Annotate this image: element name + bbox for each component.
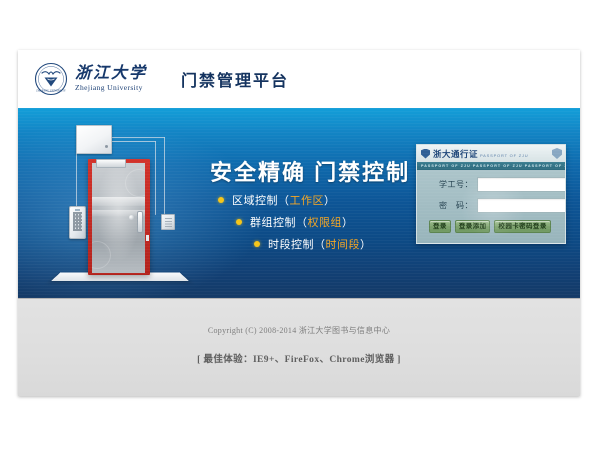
site-footer: Copyright (C) 2008-2014 浙江大学图书与信息中心 [ 最佳… <box>18 298 580 396</box>
campus-card-login-button[interactable]: 校园卡密码登录 <box>494 220 550 233</box>
login-panel-header: 浙大通行证 PASSPORT OF ZJU <box>417 145 565 162</box>
security-door-icon <box>88 159 150 275</box>
feature-label: 时段控制（ <box>268 236 326 252</box>
dot-icon <box>254 241 260 247</box>
feature-highlight: 时间段 <box>326 236 361 252</box>
field-row-staff-id: 学工号： <box>423 177 559 192</box>
feature-highlight: 权限组 <box>308 214 343 230</box>
cable-icon <box>110 141 156 142</box>
cable-icon <box>110 137 165 138</box>
password-input[interactable] <box>477 198 566 213</box>
feature-tail: ） <box>342 214 354 230</box>
login-form: 学工号： 密 码： 登录 登录添加 校园卡密码登录 <box>417 170 565 233</box>
door-lock-icon <box>129 215 134 220</box>
feature-highlight: 工作区 <box>290 192 325 208</box>
door-sensor-icon <box>161 214 175 230</box>
feature-tail: ） <box>324 192 336 208</box>
feature-label: 区域控制（ <box>232 192 290 208</box>
dot-icon <box>218 197 224 203</box>
shield-watermark-icon <box>552 148 562 159</box>
feature-item-area: 区域控制（ 工作区 ） <box>218 192 418 208</box>
field-row-password: 密 码： <box>423 198 559 213</box>
feature-label: 群组控制（ <box>250 214 308 230</box>
copyright-text: Copyright (C) 2008-2014 浙江大学图书与信息中心 <box>18 325 580 336</box>
zju-seal-icon: ZHEJIANG UNIVERSITY <box>34 62 68 96</box>
passport-watermark-strip: PASSPORT OF ZJU PASSPORT OF ZJU PASSPORT… <box>417 162 565 170</box>
login-button[interactable]: 登录 <box>429 220 451 233</box>
dot-icon <box>236 219 242 225</box>
password-label: 密 码： <box>423 200 477 211</box>
keypad-reader-icon <box>69 206 86 239</box>
login-panel: 浙大通行证 PASSPORT OF ZJU PASSPORT OF ZJU PA… <box>416 144 566 244</box>
cable-icon <box>76 152 77 206</box>
hero-banner: 安全精确 门禁控制 区域控制（ 工作区 ） 群组控制（ 权限组 ） 时段控制（ … <box>18 108 580 298</box>
brand-logo[interactable]: ZHEJIANG UNIVERSITY 浙江大学 Zhejiang Univer… <box>34 62 147 96</box>
door-handle-icon <box>137 211 143 233</box>
staff-id-label: 学工号： <box>423 179 477 190</box>
page-container: ZHEJIANG UNIVERSITY 浙江大学 Zhejiang Univer… <box>18 50 580 396</box>
svg-text:ZHEJIANG UNIVERSITY: ZHEJIANG UNIVERSITY <box>36 89 66 92</box>
feature-tail: ） <box>360 236 372 252</box>
banner-slogan: 安全精确 门禁控制 <box>210 155 410 187</box>
site-header: ZHEJIANG UNIVERSITY 浙江大学 Zhejiang Univer… <box>18 50 580 108</box>
university-name-cn: 浙江大学 <box>75 66 147 82</box>
cable-icon <box>164 137 165 214</box>
login-title-cn: 浙大通行证 <box>433 148 478 160</box>
door-closer-icon <box>96 159 126 168</box>
controller-box-icon <box>76 125 112 154</box>
feature-list: 区域控制（ 工作区 ） 群组控制（ 权限组 ） 时段控制（ 时间段 ） <box>218 192 418 258</box>
university-name-en: Zhejiang University <box>75 84 147 92</box>
feature-item-time: 时段控制（ 时间段 ） <box>254 236 418 252</box>
page-title: 门禁管理平台 <box>181 67 289 91</box>
login-title-en: PASSPORT OF ZJU <box>480 153 528 158</box>
feature-item-group: 群组控制（ 权限组 ） <box>236 214 418 230</box>
cable-icon <box>155 141 156 215</box>
login-button-row: 登录 登录添加 校园卡密码登录 <box>423 219 559 233</box>
browser-support-text: [ 最佳体验：IE9+、FireFox、Chrome浏览器 ] <box>18 351 580 365</box>
access-control-illustration <box>44 118 194 298</box>
watermark-text: PASSPORT OF ZJU PASSPORT OF ZJU PASSPORT… <box>417 164 565 168</box>
university-name: 浙江大学 Zhejiang University <box>75 66 147 93</box>
staff-id-input[interactable] <box>477 177 566 192</box>
shield-icon <box>421 149 430 159</box>
door-strike-icon <box>146 235 149 241</box>
login-add-button[interactable]: 登录添加 <box>455 220 491 233</box>
